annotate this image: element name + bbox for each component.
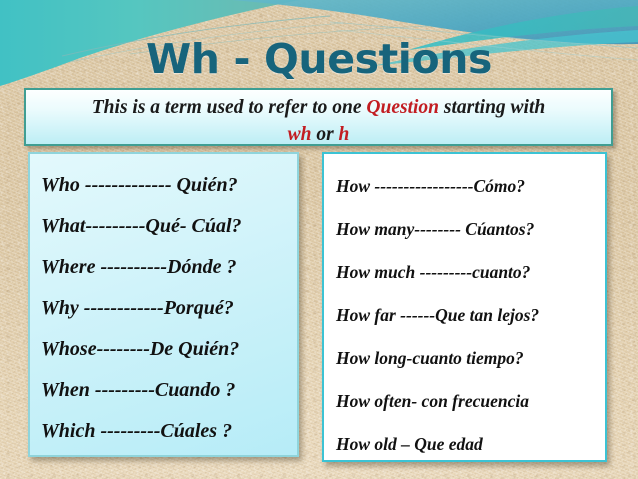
definition-highlight-wh: wh [288, 124, 312, 145]
page-title: Wh - Questions [0, 36, 638, 82]
list-item: Whose--------De Quién? [41, 329, 297, 370]
list-item: How many-------- Cúantos? [336, 208, 605, 251]
definition-text-part-1: This is a term used to refer to one [92, 97, 367, 118]
list-item: Who ------------- Quién? [41, 165, 297, 206]
definition-highlight-question: Question [366, 97, 439, 118]
list-item: What---------Qué- Cúal? [41, 206, 297, 247]
definition-text-or: or [311, 124, 338, 145]
list-item: How -----------------Cómo? [336, 165, 605, 208]
list-item: Which ---------Cúales ? [41, 411, 297, 452]
definition-banner: This is a term used to refer to one Ques… [24, 88, 613, 146]
list-item: How far ------Que tan lejos? [336, 294, 605, 337]
definition-line-1: This is a term used to refer to one Ques… [34, 94, 603, 121]
list-item: Why ------------Porqué? [41, 288, 297, 329]
definition-text-part-2: starting with [439, 97, 545, 118]
list-item: How much ---------cuanto? [336, 251, 605, 294]
definition-highlight-h: h [339, 124, 350, 145]
how-questions-panel: How -----------------Cómo? How many-----… [322, 152, 607, 462]
slide-canvas: Wh - Questions This is a term used to re… [0, 0, 638, 479]
list-item: When ---------Cuando ? [41, 370, 297, 411]
definition-line-2: wh or h [34, 121, 603, 148]
wh-questions-panel: Who ------------- Quién? What---------Qu… [28, 152, 299, 457]
list-item: How often- con frecuencia [336, 380, 605, 423]
list-item: Where ----------Dónde ? [41, 247, 297, 288]
list-item: How old – Que edad [336, 423, 605, 466]
list-item: How long-cuanto tiempo? [336, 337, 605, 380]
